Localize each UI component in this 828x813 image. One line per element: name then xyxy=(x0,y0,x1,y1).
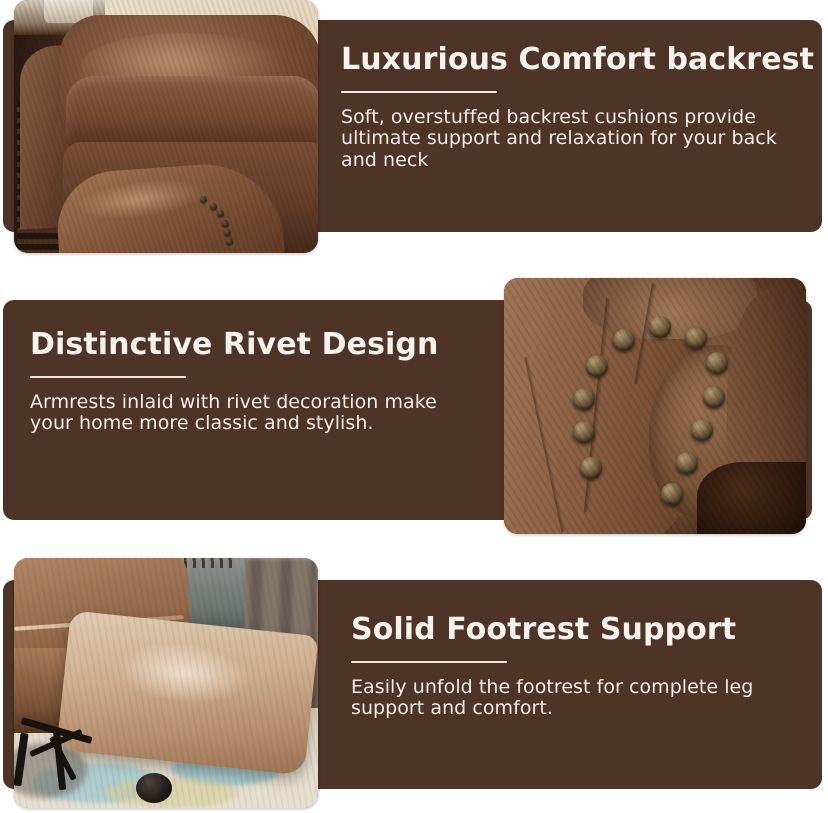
feature-copy-3: Solid Footrest Support Easily unfold the… xyxy=(351,614,771,720)
feature-body-2: Armrests inlaid with rivet decoration ma… xyxy=(30,392,480,435)
product-feature-infographic: Luxurious Comfort backrest Soft, overstu… xyxy=(0,0,828,813)
feature-heading-3: Solid Footrest Support xyxy=(351,614,771,646)
heading-divider-3 xyxy=(351,661,507,663)
leather-grain-texture xyxy=(14,0,318,253)
feature-body-1: Soft, overstuffed backrest cushions prov… xyxy=(341,107,781,172)
feature-body-3: Easily unfold the footrest for complete … xyxy=(351,677,771,720)
feature-copy-2: Distinctive Rivet Design Armrests inlaid… xyxy=(30,329,480,435)
feature-copy-1: Luxurious Comfort backrest Soft, overstu… xyxy=(341,44,781,171)
heading-divider-1 xyxy=(341,91,497,93)
leather-grain-texture xyxy=(14,558,318,808)
feature-heading-1: Luxurious Comfort backrest xyxy=(341,44,781,76)
feature-image-2 xyxy=(504,278,806,534)
feature-image-1 xyxy=(14,0,318,253)
feature-image-3 xyxy=(14,558,318,808)
suede-grain-texture xyxy=(504,278,806,534)
heading-divider-2 xyxy=(30,376,186,378)
feature-heading-2: Distinctive Rivet Design xyxy=(30,329,480,361)
